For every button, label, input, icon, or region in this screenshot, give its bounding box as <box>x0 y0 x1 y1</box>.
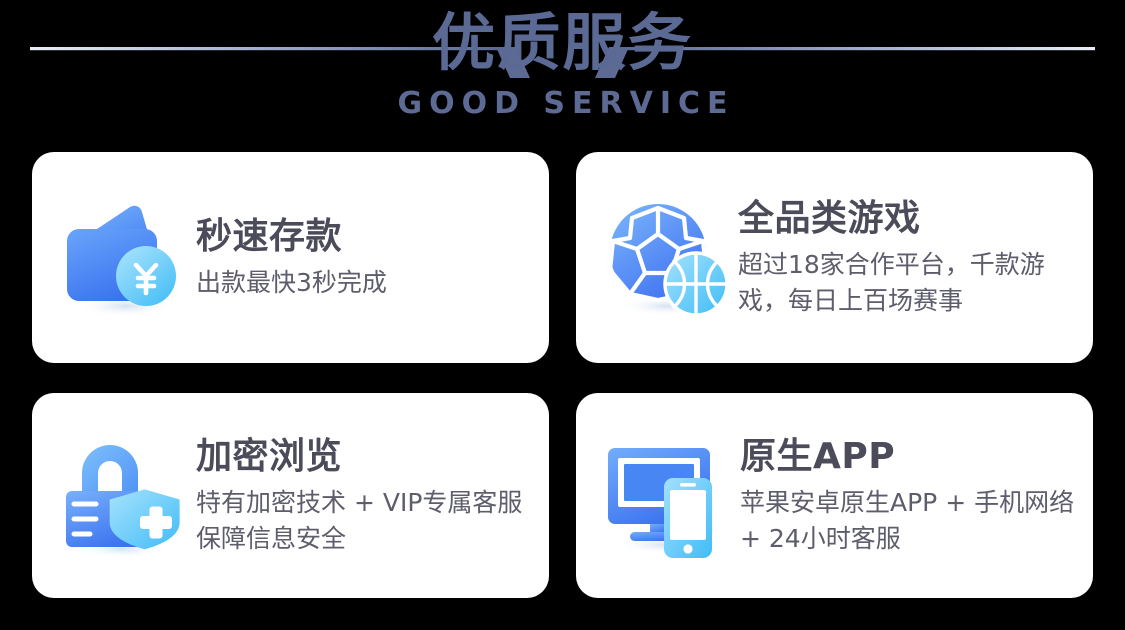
feature-card-native-app[interactable]: 原生APP 苹果安卓原生APP + 手机网络 + 24小时客服 <box>576 393 1093 598</box>
header: 优质服务 GOOD SERVICE <box>0 0 1125 148</box>
card-title: 加密浏览 <box>196 435 531 479</box>
card-title: 秒速存款 <box>196 215 531 259</box>
feature-card-grid: 秒速存款 出款最快3秒完成 <box>32 152 1093 598</box>
card-text: 加密浏览 特有加密技术 + VIP专属客服保障信息安全 <box>190 435 531 557</box>
page-subtitle: GOOD SERVICE <box>0 86 1125 122</box>
card-description: 苹果安卓原生APP + 手机网络 + 24小时客服 <box>740 485 1075 557</box>
card-title: 全品类游戏 <box>738 197 1075 241</box>
feature-card-deposit[interactable]: 秒速存款 出款最快3秒完成 <box>32 152 549 363</box>
title-block: 优质服务 GOOD SERVICE <box>0 6 1125 122</box>
page-title: 优质服务 <box>0 6 1125 80</box>
wallet-yen-icon <box>58 190 190 322</box>
lock-shield-icon <box>58 431 190 563</box>
card-text: 全品类游戏 超过18家合作平台，千款游戏，每日上百场赛事 <box>734 197 1075 319</box>
card-description: 特有加密技术 + VIP专属客服保障信息安全 <box>196 485 531 557</box>
good-service-banner: 优质服务 GOOD SERVICE <box>0 0 1125 630</box>
monitor-phone-icon <box>602 430 734 562</box>
card-title: 原生APP <box>740 435 1075 479</box>
card-description: 出款最快3秒完成 <box>196 265 531 301</box>
card-text: 原生APP 苹果安卓原生APP + 手机网络 + 24小时客服 <box>734 435 1075 557</box>
card-description: 超过18家合作平台，千款游戏，每日上百场赛事 <box>738 247 1075 319</box>
feature-card-games[interactable]: 全品类游戏 超过18家合作平台，千款游戏，每日上百场赛事 <box>576 152 1093 363</box>
soccer-basketball-icon <box>602 192 734 324</box>
feature-card-encryption[interactable]: 加密浏览 特有加密技术 + VIP专属客服保障信息安全 <box>32 393 549 598</box>
card-text: 秒速存款 出款最快3秒完成 <box>190 215 531 301</box>
